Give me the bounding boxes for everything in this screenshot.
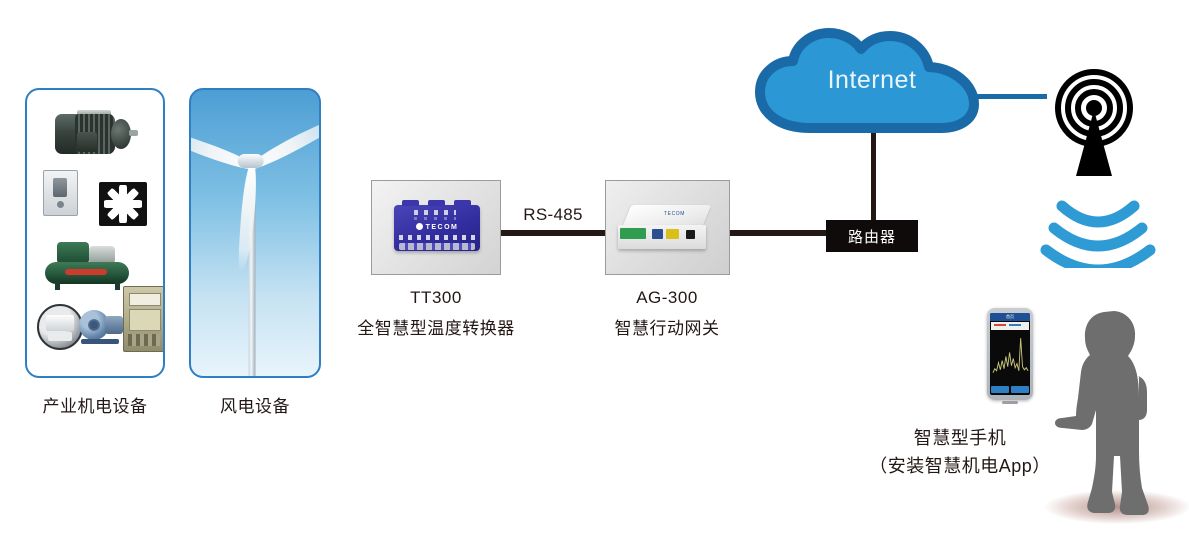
phone-chart-legend: [991, 322, 1029, 330]
tt300-model-label: TT300: [306, 288, 566, 308]
person-silhouette-icon: [1052, 306, 1172, 521]
phone-action-buttons[interactable]: [991, 386, 1029, 393]
ag300-description-label: 智慧行动网关: [562, 314, 772, 339]
cell-tower-icon: [1042, 68, 1154, 183]
router-node: 路由器: [826, 220, 918, 252]
vfd-drive-icon: [43, 170, 78, 216]
smartphone-device[interactable]: 首页: [987, 308, 1033, 400]
smartphone-label-line1: 智慧型手机: [830, 424, 1090, 452]
circuit-breaker-icon: [123, 286, 165, 352]
wind-equipment-panel: [189, 88, 321, 378]
phone-home-button[interactable]: [1002, 401, 1018, 404]
ag300-brand-logo: TECOM: [664, 211, 685, 217]
wire-tt300-to-ag300: [501, 230, 605, 236]
phone-app-titlebar: 首页: [990, 313, 1030, 321]
wind-turbine-icon: [191, 90, 319, 376]
terminal-block-green: [620, 228, 646, 239]
phone-button-right[interactable]: [1011, 386, 1029, 393]
internet-label: Internet: [752, 66, 992, 95]
industrial-equipment-panel: [25, 88, 165, 378]
wire-router-to-cloud: [871, 132, 876, 220]
tt300-device-photo: TECOM: [371, 180, 501, 275]
wire-cloud-to-tower: [975, 94, 1047, 99]
tt300-description-label: 全智慧型温度转换器: [306, 314, 566, 339]
electric-motor-icon: [55, 106, 137, 160]
ag300-model-label: AG-300: [562, 288, 772, 308]
phone-app-title: 首页: [1006, 314, 1014, 320]
phone-button-left[interactable]: [991, 386, 1009, 393]
wifi-signal-icon: [1040, 198, 1156, 268]
tecom-logo: TECOM: [394, 223, 480, 231]
port-yellow: [666, 229, 679, 239]
tt300-module-icon: TECOM: [394, 205, 480, 251]
ag300-caption: AG-300 智慧行动网关: [562, 288, 772, 339]
internet-cloud-node: Internet: [752, 28, 992, 136]
diagram-canvas: 产业机电设备 风电设备 TECOM TT300 全智慧型温度转换器 RS-485…: [0, 0, 1189, 543]
smartphone-label-line2: （安装智慧机电App）: [830, 452, 1090, 480]
port-blue: [652, 229, 663, 239]
tt300-caption: TT300 全智慧型温度转换器: [306, 288, 566, 339]
router-label: 路由器: [848, 226, 896, 247]
ag300-device-photo: TECOM: [605, 180, 730, 275]
centrifugal-pump-icon: [79, 308, 123, 346]
industrial-equipment-label: 产业机电设备: [25, 392, 165, 417]
cooling-fan-icon: [99, 182, 147, 226]
air-compressor-icon: [43, 236, 131, 290]
port-black: [686, 230, 695, 239]
phone-screen[interactable]: 首页: [990, 313, 1030, 395]
smartphone-caption: 智慧型手机 （安装智慧机电App）: [830, 424, 1090, 480]
rs485-link-label: RS-485: [501, 205, 605, 225]
ag300-port-panel: [618, 225, 706, 249]
wire-ag300-to-router: [730, 230, 826, 236]
energy-meter-icon: [37, 304, 83, 350]
phone-chart-plot: [992, 332, 1029, 381]
wind-equipment-label: 风电设备: [189, 392, 321, 417]
